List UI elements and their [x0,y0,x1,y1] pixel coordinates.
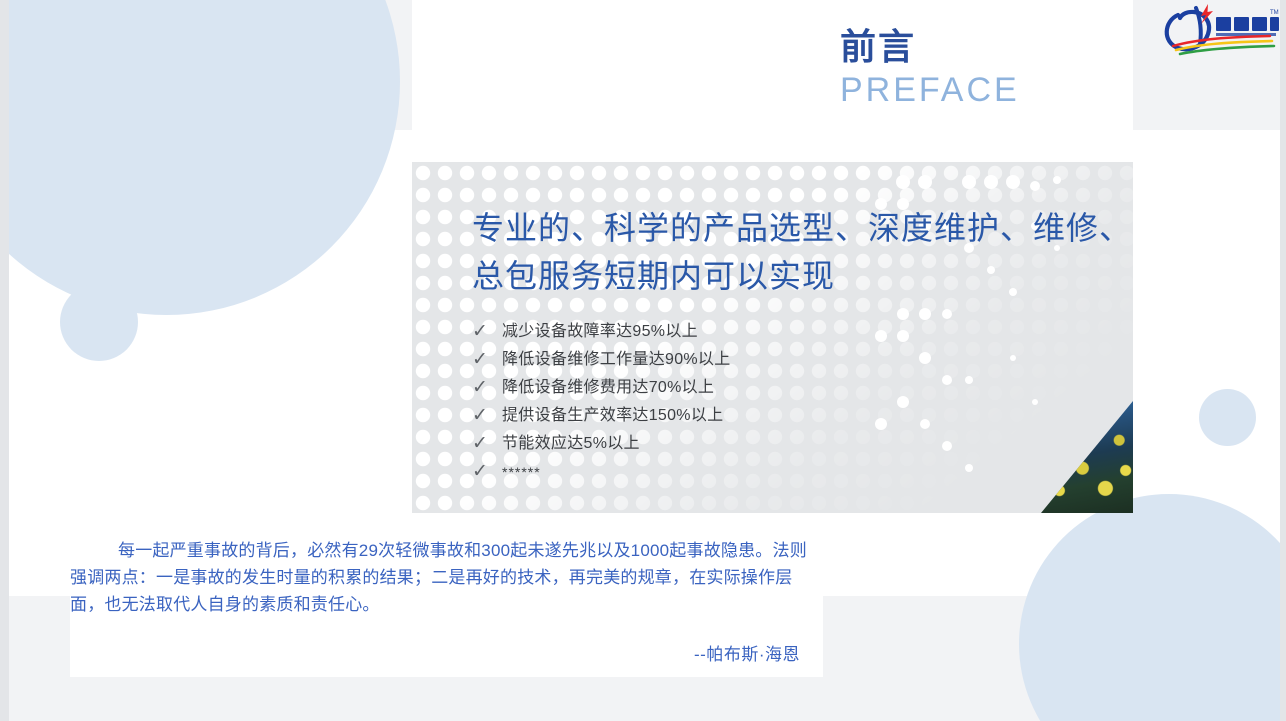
check-icon: ✓ [472,430,502,458]
list-item-label: 降低设备维修费用达70%以上 [502,374,714,402]
logo-icon: TM [1160,2,1282,57]
check-icon: ✓ [472,374,502,402]
list-item-label: 节能效应达5%以上 [502,430,640,458]
list-item-label: ****** [502,458,541,486]
quote-block: 每一起严重事故的背后，必然有29次轻微事故和300起未遂先兆以及1000起事故隐… [70,527,823,677]
slide-canvas: 前言 PREFACE TM [0,0,1286,721]
right-gutter [1280,0,1286,721]
list-item-label: 提供设备生产效率达150%以上 [502,402,723,430]
trademark-mark: TM [1270,10,1279,16]
left-gutter [0,0,9,721]
decorative-circle-small-left [60,283,138,361]
list-item: ✓ 降低设备维修工作量达90%以上 [472,346,1132,374]
list-item-label: 降低设备维修工作量达90%以上 [502,346,731,374]
quote-attribution: --帕布斯·海恩 [694,640,800,665]
quote-text: 每一起严重事故的背后，必然有29次轻微事故和300起未遂先兆以及1000起事故隐… [70,537,823,618]
list-item: ✓ ****** [472,458,1132,486]
check-icon: ✓ [472,318,502,346]
page-title-cn: 前言 [840,25,1020,69]
decorative-circle-large-topleft [0,0,400,315]
content-card: 专业的、科学的产品选型、深度维护、维修、总包服务短期内可以实现 ✓ 减少设备故障… [412,162,1133,513]
check-icon: ✓ [472,458,502,486]
decorative-circle-large-bottomright [1019,494,1286,721]
check-icon: ✓ [472,346,502,374]
page-title-en: PREFACE [840,69,1020,111]
decorative-circle-small-right [1199,389,1256,446]
list-item: ✓ 减少设备故障率达95%以上 [472,318,1132,346]
list-item: ✓ 提供设备生产效率达150%以上 [472,402,1132,430]
list-item: ✓ 降低设备维修费用达70%以上 [472,374,1132,402]
list-item-label: 减少设备故障率达95%以上 [502,318,698,346]
benefit-list: ✓ 减少设备故障率达95%以上 ✓ 降低设备维修工作量达90%以上 ✓ 降低设备… [472,318,1132,486]
company-logo: TM [1160,2,1282,57]
header-panel: 前言 PREFACE [412,0,1133,130]
header-titles: 前言 PREFACE [840,25,1020,111]
card-heading: 专业的、科学的产品选型、深度维护、维修、总包服务短期内可以实现 [472,204,1133,300]
card-content: 专业的、科学的产品选型、深度维护、维修、总包服务短期内可以实现 ✓ 减少设备故障… [472,204,1132,486]
check-icon: ✓ [472,402,502,430]
list-item: ✓ 节能效应达5%以上 [472,430,1132,458]
